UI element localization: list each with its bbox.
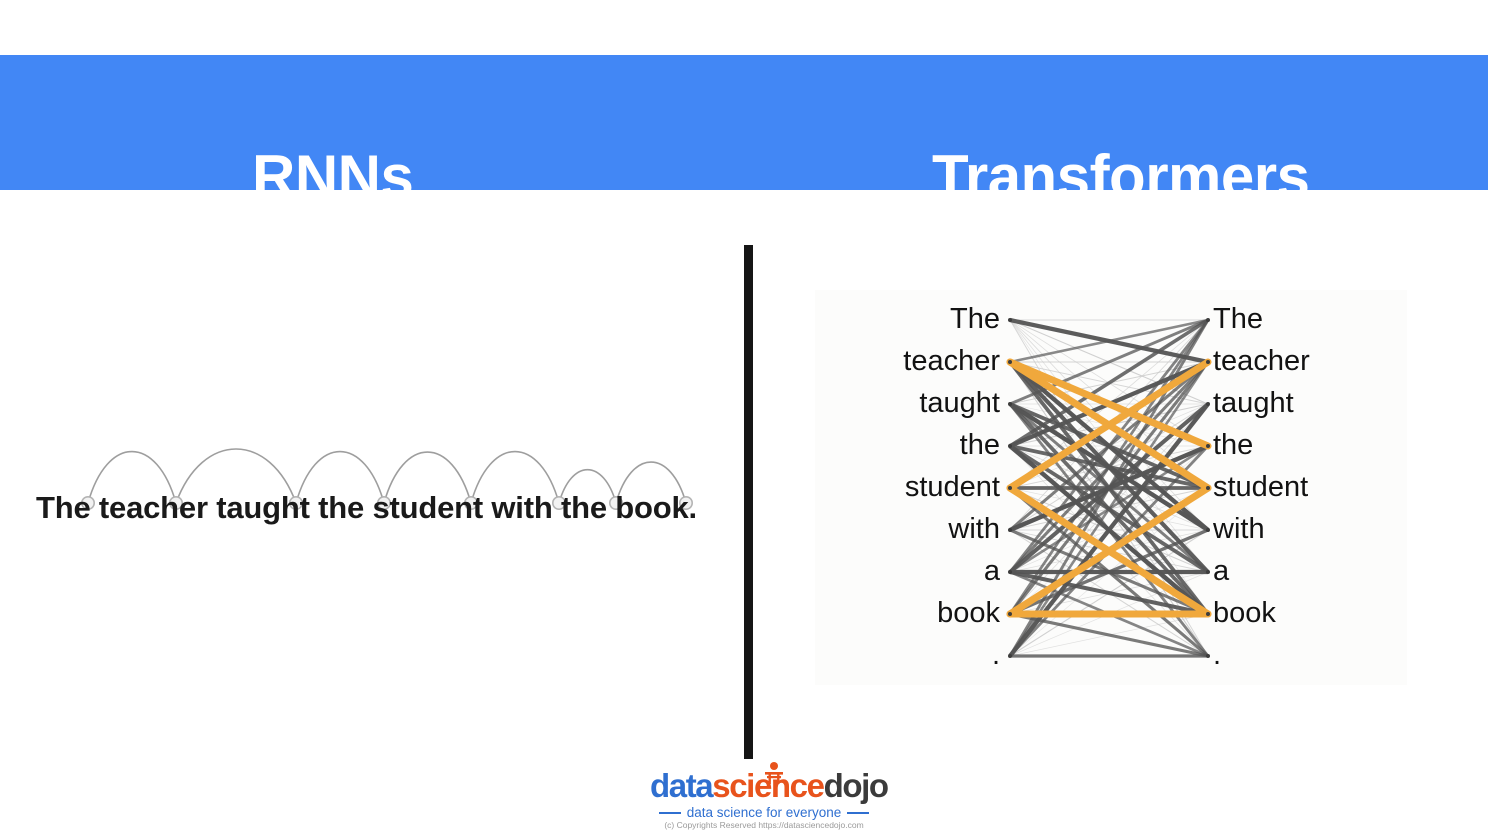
attention-node-dot	[1206, 360, 1210, 364]
attention-node-dot	[1008, 612, 1012, 616]
vertical-divider	[744, 245, 753, 759]
attention-diagram: Theteachertaughtthestudentwithabook. The…	[815, 290, 1407, 685]
attention-token-right: a	[1213, 557, 1388, 586]
attention-token-left: the	[825, 431, 1000, 460]
datasciencedojo-logo: datasciencedojo data science for everyon…	[650, 766, 878, 828]
logo-tagline-text: data science for everyone	[687, 805, 842, 820]
attention-token-right: student	[1213, 473, 1388, 502]
attention-node-dot	[1008, 570, 1012, 574]
attention-token-left: with	[825, 515, 1000, 544]
logo-rule-left	[659, 812, 681, 814]
attention-node-dot	[1008, 318, 1012, 322]
attention-token-left: student	[825, 473, 1000, 502]
attention-token-right: the	[1213, 431, 1388, 460]
attention-node-dot	[1008, 360, 1012, 364]
attention-token-left: teacher	[825, 347, 1000, 376]
attention-token-left: a	[825, 557, 1000, 586]
attention-node-dot	[1008, 486, 1012, 490]
attention-token-right: with	[1213, 515, 1388, 544]
attention-node-dot	[1008, 402, 1012, 406]
attention-node-dot	[1008, 444, 1012, 448]
header-bar: RNNs Transformers	[0, 55, 1488, 190]
attention-token-left: The	[825, 305, 1000, 334]
header-title-transformers: Transformers	[932, 147, 1310, 207]
attention-token-left: .	[825, 641, 1000, 670]
attention-token-right: taught	[1213, 389, 1388, 418]
attention-token-right: .	[1213, 641, 1388, 670]
attention-node-dot	[1206, 654, 1210, 658]
attention-node-dot	[1008, 654, 1012, 658]
attention-token-right: book	[1213, 599, 1388, 628]
logo-copyright-text: (c) Copyrights Reserved https://datascie…	[650, 820, 878, 830]
logo-wordmark: datasciencedojo	[650, 766, 878, 806]
attention-node-dot	[1206, 402, 1210, 406]
torii-gate-icon	[763, 762, 785, 784]
attention-node-dot	[1206, 570, 1210, 574]
attention-node-dot	[1206, 486, 1210, 490]
attention-node-dot	[1008, 528, 1012, 532]
attention-node-dot	[1206, 612, 1210, 616]
attention-node-dot	[1206, 528, 1210, 532]
rnn-sentence-label: The teacher taught the student with the …	[36, 490, 696, 526]
rnn-panel: The teacher taught the student with the …	[0, 200, 744, 760]
logo-rule-right	[847, 812, 869, 814]
logo-word-dojo: dojo	[824, 767, 888, 804]
attention-token-right: teacher	[1213, 347, 1388, 376]
logo-tagline-row: data science for everyone	[650, 804, 878, 821]
attention-token-left: taught	[825, 389, 1000, 418]
attention-token-right: The	[1213, 305, 1388, 334]
attention-node-dot	[1206, 318, 1210, 322]
header-title-rnns: RNNs	[252, 147, 413, 207]
attention-token-left: book	[825, 599, 1000, 628]
attention-node-dot	[1206, 444, 1210, 448]
transformers-panel: Theteachertaughtthestudentwithabook. The…	[753, 200, 1488, 760]
logo-word-data: data	[650, 767, 712, 804]
